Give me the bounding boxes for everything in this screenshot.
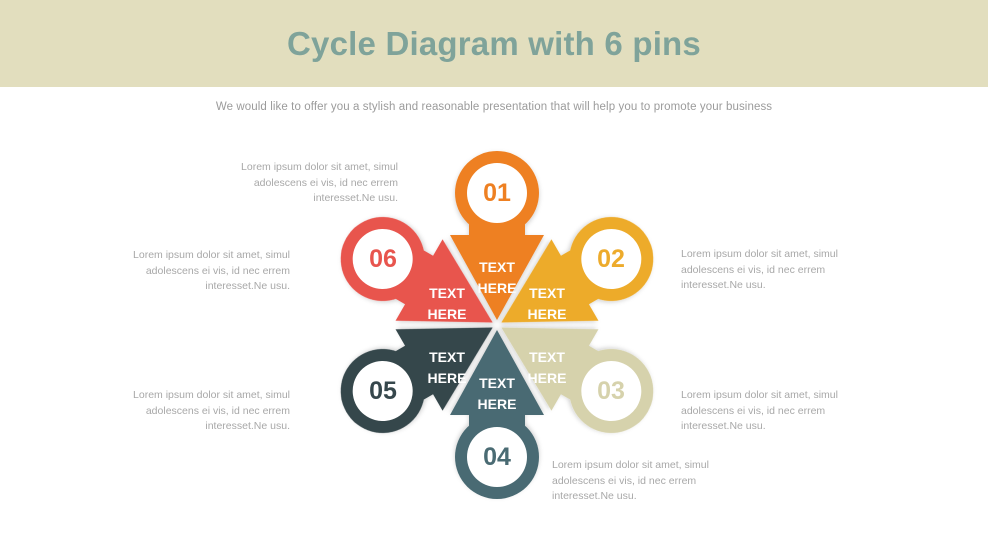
pin-01-label-line2: HERE — [478, 280, 517, 296]
caption-pin-04: Lorem ipsum dolor sit amet, simul adoles… — [552, 458, 737, 505]
subtitle: We would like to offer you a stylish and… — [0, 101, 988, 113]
caption-pin-01: Lorem ipsum dolor sit amet, simul adoles… — [213, 160, 398, 207]
caption-pin-05: Lorem ipsum dolor sit amet, simul adoles… — [105, 388, 290, 435]
diagram-stage: 01 TEXT HERE 02 TEXT HERE — [0, 130, 988, 550]
pin-06-number: 06 — [369, 245, 397, 273]
pin-02-number: 02 — [597, 245, 625, 273]
header-band: Cycle Diagram with 6 pins — [0, 0, 988, 87]
pin-06-label-line1: TEXT — [429, 285, 465, 301]
pin-06-label-line2: HERE — [428, 306, 467, 322]
caption-pin-03: Lorem ipsum dolor sit amet, simul adoles… — [681, 388, 866, 435]
pin-02-label-line2: HERE — [528, 306, 567, 322]
pin-05-number: 05 — [369, 377, 397, 405]
pin-04-number: 04 — [483, 443, 511, 471]
pin-05-label-line2: HERE — [428, 370, 467, 386]
pin-03-number: 03 — [597, 377, 625, 405]
pin-01-label-line1: TEXT — [479, 259, 515, 275]
pin-03-label-line2: HERE — [528, 370, 567, 386]
page-title: Cycle Diagram with 6 pins — [287, 25, 701, 63]
pin-01-number: 01 — [483, 179, 511, 207]
pin-03-label-line1: TEXT — [529, 349, 565, 365]
pin-04-label-line2: HERE — [478, 396, 517, 412]
caption-pin-02: Lorem ipsum dolor sit amet, simul adoles… — [681, 247, 866, 294]
caption-pin-06: Lorem ipsum dolor sit amet, simul adoles… — [105, 248, 290, 295]
pin-05-label-line1: TEXT — [429, 349, 465, 365]
pin-04-label-line1: TEXT — [479, 375, 515, 391]
pin-02-label-line1: TEXT — [529, 285, 565, 301]
